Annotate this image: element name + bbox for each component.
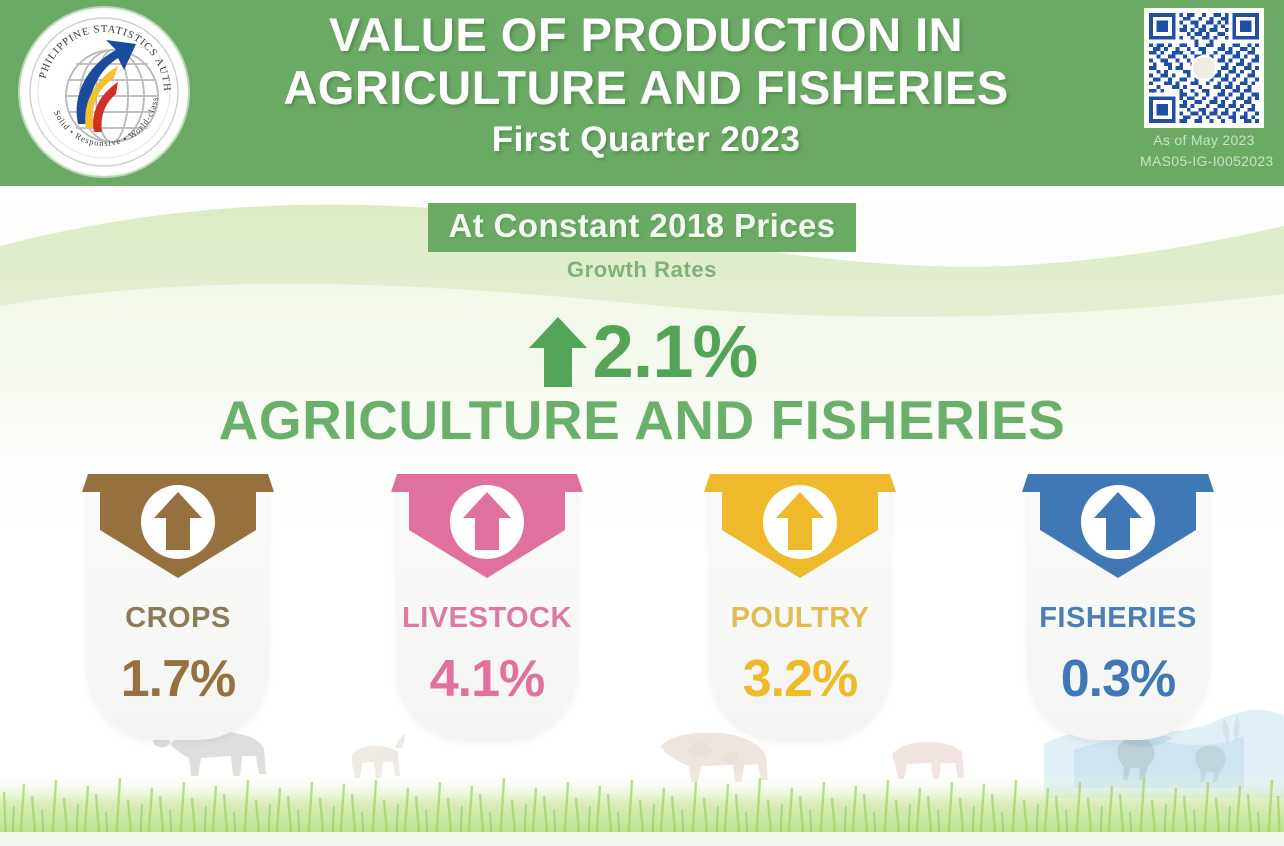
price-basis-block: At Constant 2018 Prices Growth Rates: [0, 203, 1284, 283]
card-value-poultry: 3.2%: [710, 650, 890, 708]
card-name-fisheries: FISHERIES: [1028, 602, 1208, 634]
sector-card-poultry[interactable]: POULTRY 3.2%: [710, 470, 890, 740]
arrow-up-icon: [527, 315, 589, 389]
sector-card-fisheries[interactable]: FISHERIES 0.3%: [1028, 470, 1208, 740]
headline-label: AGRICULTURE AND FISHERIES: [0, 390, 1284, 450]
card-value-crops: 1.7%: [88, 650, 268, 708]
qr-block: As of May 2023 MAS05-IG-I0052023: [1140, 8, 1268, 170]
headline-value: 2.1%: [593, 315, 758, 389]
headline-row: 2.1%: [0, 312, 1284, 392]
ribbon-banner-fisheries: [1014, 470, 1222, 582]
header-title-block: VALUE OF PRODUCTION IN AGRICULTURE AND F…: [196, 8, 1096, 178]
card-name-livestock: LIVESTOCK: [397, 602, 577, 634]
qr-caption-reference: MAS05-IG-I0052023: [1140, 153, 1268, 170]
sector-card-livestock[interactable]: LIVESTOCK 4.1%: [397, 470, 577, 740]
qr-code[interactable]: [1144, 8, 1264, 128]
ribbon-banner-crops: [74, 470, 282, 582]
card-name-crops: CROPS: [88, 602, 268, 634]
ribbon-banner-livestock: [383, 470, 591, 582]
sector-cards: CROPS 1.7% LIVESTOCK 4.1% POULTRY 3.2%: [0, 470, 1284, 760]
page-title-line1: VALUE OF PRODUCTION IN: [196, 8, 1096, 61]
headline-block: 2.1% AGRICULTURE AND FISHERIES: [0, 312, 1284, 450]
sector-card-crops[interactable]: CROPS 1.7%: [88, 470, 268, 740]
measure-label: Growth Rates: [0, 257, 1284, 283]
qr-center-logo: [1191, 55, 1217, 81]
ribbon-banner-poultry: [696, 470, 904, 582]
infographic-poster: PHILIPPINE STATISTICS AUTHORITY Solid • …: [0, 0, 1284, 846]
page-title-line2: AGRICULTURE AND FISHERIES: [196, 61, 1096, 114]
poster-header: PHILIPPINE STATISTICS AUTHORITY Solid • …: [0, 0, 1284, 186]
card-value-fisheries: 0.3%: [1028, 650, 1208, 708]
psa-logo-mark: PHILIPPINE STATISTICS AUTHORITY Solid • …: [20, 8, 188, 176]
page-period: First Quarter 2023: [196, 120, 1096, 160]
card-name-poultry: POULTRY: [710, 602, 890, 634]
psa-logo: PHILIPPINE STATISTICS AUTHORITY Solid • …: [20, 8, 188, 176]
price-basis-banner: At Constant 2018 Prices: [428, 203, 855, 252]
card-value-livestock: 4.1%: [397, 650, 577, 708]
bottom-strip: [0, 832, 1284, 846]
qr-caption-date: As of May 2023: [1140, 132, 1268, 149]
